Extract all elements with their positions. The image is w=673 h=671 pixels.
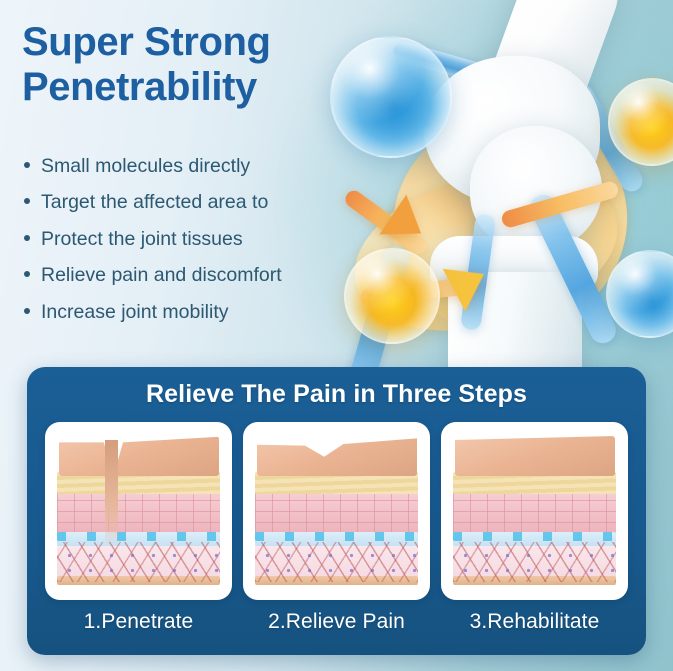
list-item-label: Relieve pain and discomfort [41,264,282,287]
blue-fluid-stream [526,190,620,347]
page-title: Super Strong Penetrability [22,20,362,110]
wound-fissure [105,440,118,546]
blue-fluid-stream [391,39,489,85]
gold-molecule-bubble [608,78,673,166]
orange-penetration-arrow [500,180,620,229]
list-item-label: Target the affected area to [41,191,268,214]
basal-cell-row [255,532,418,541]
list-item-label: Protect the joint tissues [41,228,243,251]
dermis-cell-texture [453,492,616,534]
step-card-2 [243,422,430,600]
femur-bone [455,0,631,202]
femur-condyle [424,56,600,206]
list-item: Increase joint mobility [24,301,364,324]
step-card-3 [441,422,628,600]
skin-surface [257,436,417,476]
bullet-dot-icon [24,271,30,277]
gold-orbit-ring [360,77,660,369]
tibia-plateau [430,236,598,290]
bullet-dot-icon [24,162,30,168]
three-steps-panel: Relieve The Pain in Three Steps [27,367,646,655]
basal-cell-row [57,532,220,541]
step-labels-row: 1.Penetrate 2.Relieve Pain 3.Rehabilitat… [27,600,646,634]
orange-penetration-arrow [379,195,434,254]
blue-fluid-stream [567,81,646,196]
skin-surface [59,436,219,476]
step-label-3: 3.Rehabilitate [441,610,628,634]
list-item: Target the affected area to [24,191,364,214]
page-title-line-1: Super Strong [22,20,362,65]
benefits-list: Small molecules directly Target the affe… [24,155,364,337]
fibroblast-dots [455,548,615,580]
bullet-dot-icon [24,235,30,241]
step-card-1 [45,422,232,600]
list-item: Protect the joint tissues [24,228,364,251]
steps-panel-title: Relieve The Pain in Three Steps [27,367,646,409]
list-item-label: Small molecules directly [41,155,250,178]
gold-orbit-ring [338,146,634,356]
list-item-label: Increase joint mobility [41,301,229,324]
bullet-dot-icon [24,308,30,314]
fibroblast-dots [59,548,219,580]
page-title-line-2: Penetrability [22,65,362,110]
dermis-cell-texture [255,492,418,534]
skin-surface [455,436,615,476]
bullet-dot-icon [24,198,30,204]
dermis-cell-texture [57,492,220,534]
orange-penetration-arrow [443,253,496,311]
step-label-1: 1.Penetrate [45,610,232,634]
list-item: Small molecules directly [24,155,364,178]
skin-cross-section-deep-wound [53,436,224,586]
step-cards-row [27,409,646,600]
femur-condyle [470,126,602,252]
list-item: Relieve pain and discomfort [24,264,364,287]
blue-molecule-bubble [606,250,673,338]
basal-cell-row [453,532,616,541]
skin-cross-section-healed-flat [449,436,620,586]
step-label-2: 2.Relieve Pain [243,610,430,634]
blue-fluid-stream [460,213,496,331]
orange-penetration-arrow [359,278,466,308]
fibroblast-dots [257,548,417,580]
skin-cross-section-healing-dip [251,436,422,586]
